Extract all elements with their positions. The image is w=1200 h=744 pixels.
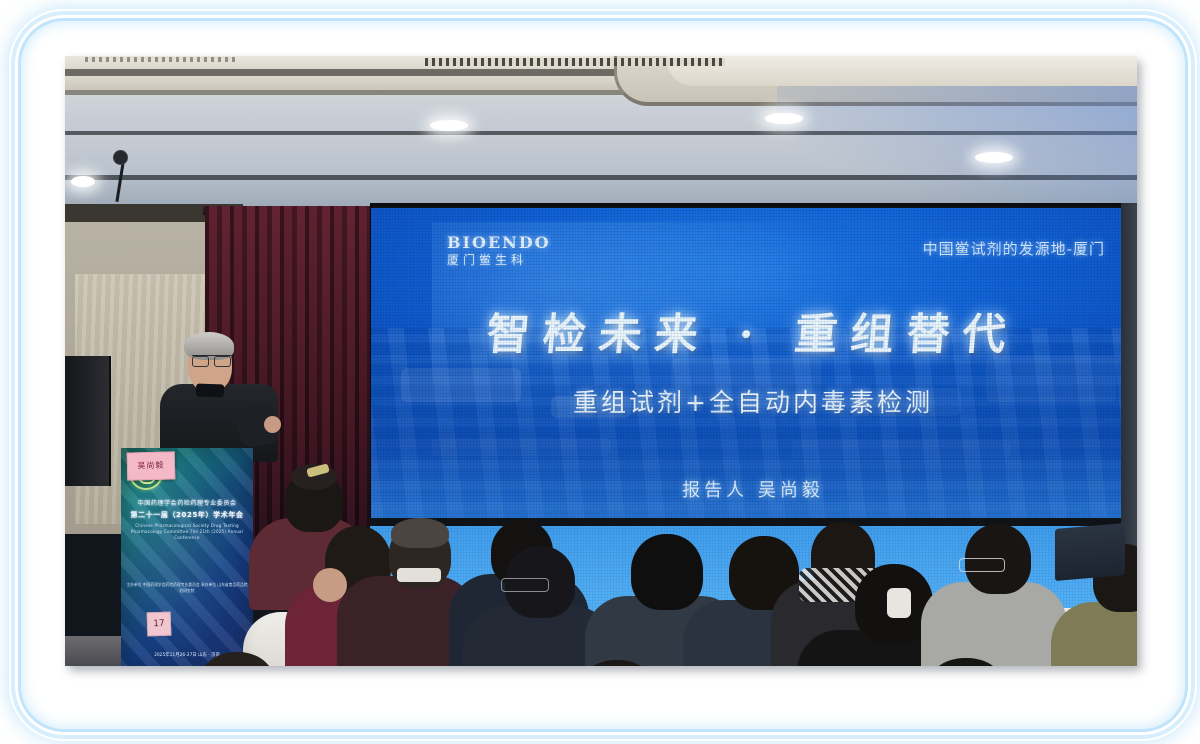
presenter-collar: [196, 384, 224, 398]
ceiling-downlight: [975, 152, 1013, 163]
screenshot-root: BIOENDO 厦门鲎生科 中国鲎试剂的发源地-厦门 智检未来 · 重组替代 重…: [0, 0, 1200, 744]
loudspeaker-cabinet: [65, 356, 111, 486]
banner-organizers: 主办单位 中国药理学会药检药理专业委员会 承办单位 山东省食品药品检验研究院: [125, 582, 249, 594]
ceiling-blue-light-wash: [777, 86, 1137, 206]
banner-english: Chinese Pharmacological Society Drug Tes…: [125, 523, 249, 541]
ceiling-vent-icon: [425, 58, 725, 66]
water-bottle: [535, 622, 552, 666]
slide-tagline: 中国鲎试剂的发源地-厦门: [923, 238, 1105, 259]
slide-speaker-line: 报告人 吴尚毅: [371, 476, 1135, 502]
glasses-icon: [501, 578, 549, 592]
ceiling-downlight: [71, 176, 95, 187]
logo-english-text: BIOENDO: [447, 234, 551, 251]
ceiling: [65, 56, 1137, 206]
water-bottle: [1027, 576, 1044, 624]
logo-chinese-text: 厦门鲎生科: [447, 253, 551, 268]
banner-line-2: 第二十一届（2025年）学术年会: [125, 510, 249, 520]
laptop: [1055, 523, 1125, 581]
slide-subtitle: 重组试剂+全自动内毒素检测: [371, 383, 1135, 419]
microphone-icon: [113, 150, 128, 165]
ceiling-downlight: [430, 120, 468, 131]
podium-banner: 中国药理学会药检药理专业委员会 第二十一届（2025年）学术年会 Chinese…: [121, 448, 253, 666]
ceiling-vent-small-icon: [85, 57, 235, 62]
bioendo-logo: BIOENDO 厦门鲎生科: [447, 234, 551, 268]
name-card-text: 吴尚毅: [128, 452, 175, 479]
hair-claw-clip-icon: [887, 588, 911, 618]
banner-line-1: 中国药理学会药检药理专业委员会: [125, 498, 249, 507]
name-card: 吴尚毅: [127, 451, 176, 480]
water-bottle: [1065, 618, 1082, 666]
presenter-hand: [264, 416, 281, 433]
ceiling-downlight: [765, 113, 803, 124]
glasses-icon: [192, 355, 231, 365]
glasses-icon: [959, 558, 1005, 572]
conference-photograph: BIOENDO 厦门鲎生科 中国鲎试剂的发源地-厦门 智检未来 · 重组替代 重…: [65, 56, 1137, 666]
water-bottle: [423, 646, 440, 666]
presenter: [160, 332, 278, 457]
ceiling-recess-inner: [667, 56, 1137, 86]
shirt-collar: [397, 568, 441, 582]
presentation-slide: BIOENDO 厦门鲎生科 中国鲎试剂的发源地-厦门 智检未来 · 重组替代 重…: [371, 208, 1135, 553]
seat-tag-text: 17: [148, 613, 171, 636]
seat-tag: 17: [147, 612, 172, 637]
slide-main-title: 智检未来 · 重组替代: [371, 300, 1135, 362]
